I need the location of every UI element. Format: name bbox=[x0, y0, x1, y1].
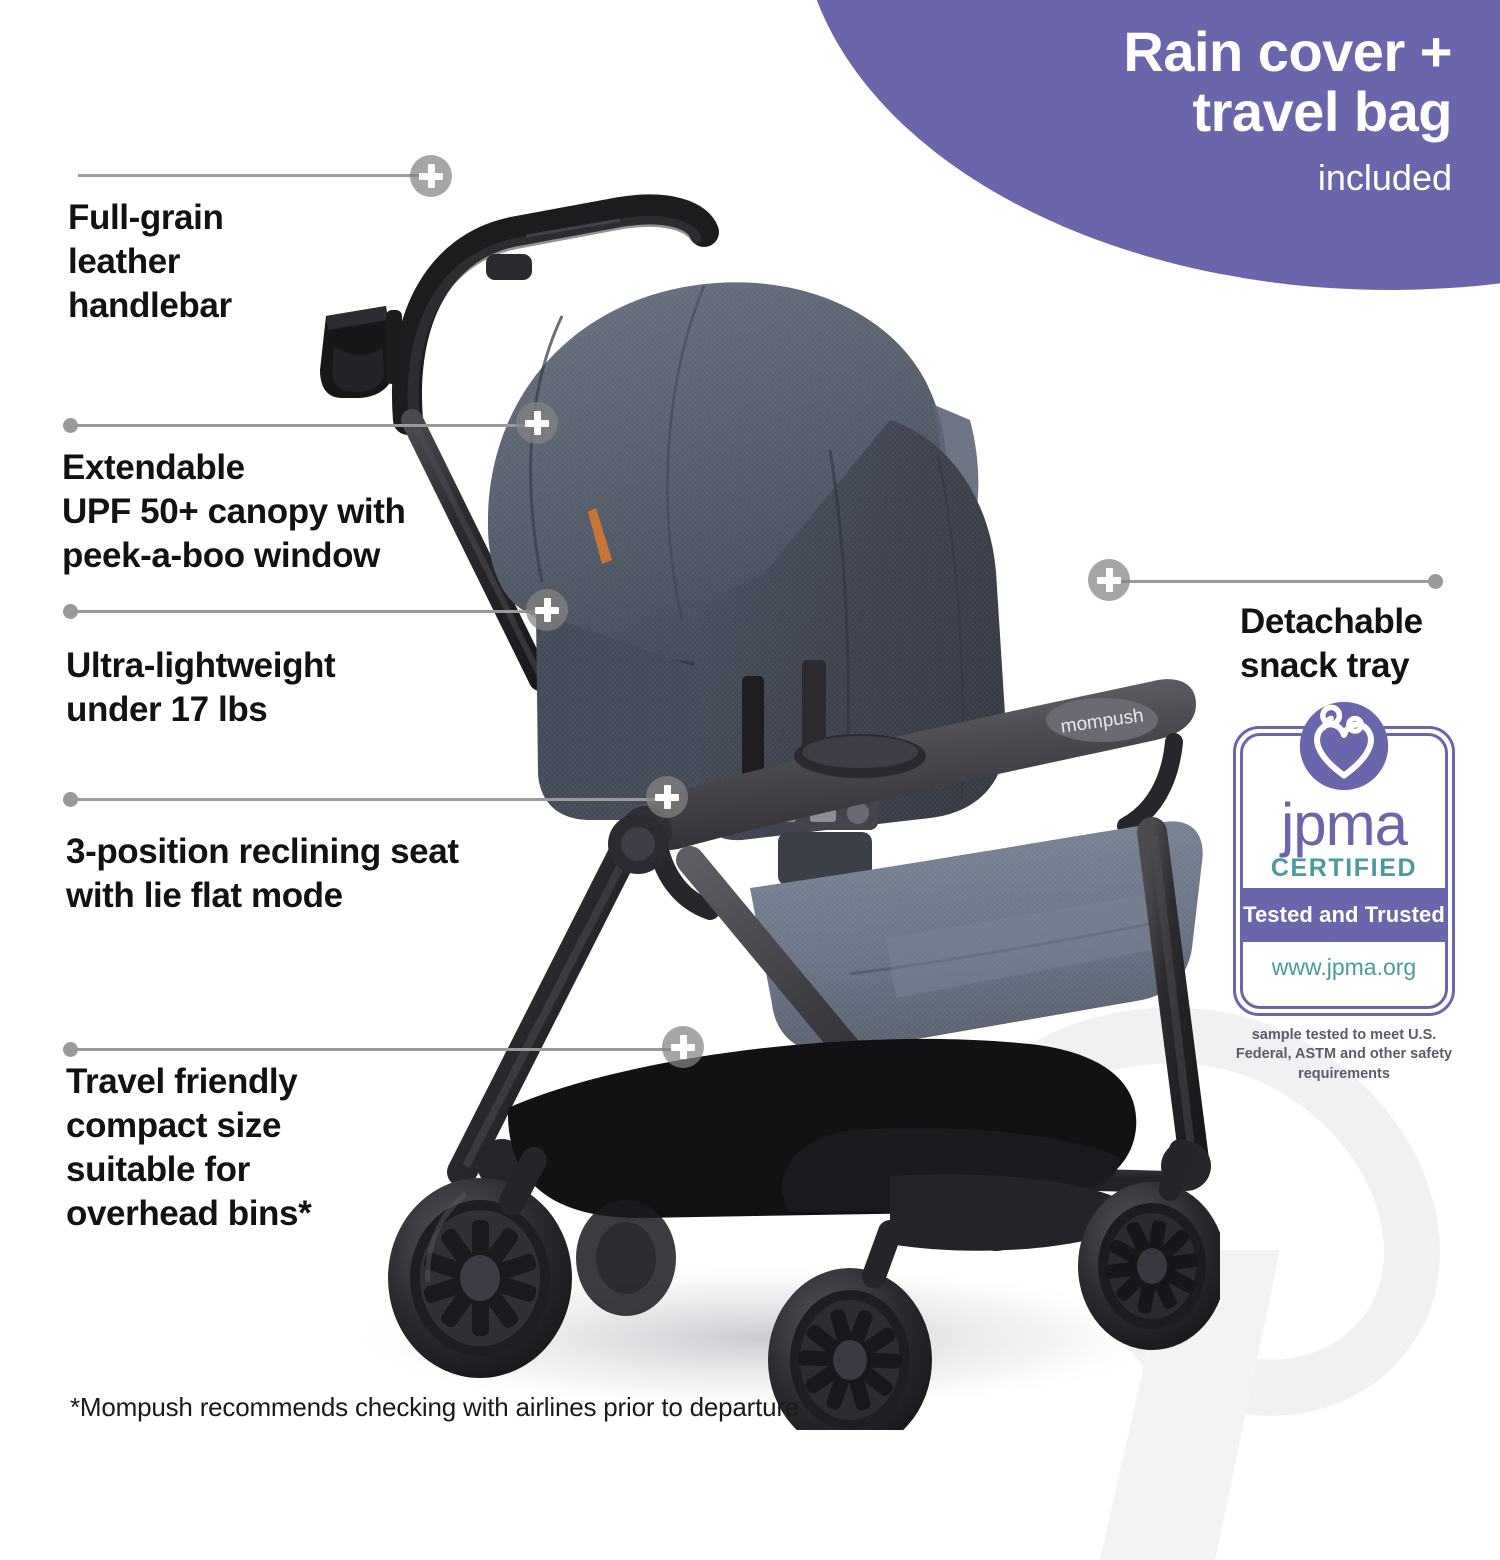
feature-line: with lie flat mode bbox=[66, 874, 459, 918]
feature-line: handlebar bbox=[68, 284, 232, 328]
leader-line-weight bbox=[76, 610, 546, 613]
jpma-url-text[interactable]: www.jpma.org bbox=[1243, 954, 1445, 981]
plus-icon-recline[interactable] bbox=[646, 776, 688, 818]
feature-line: Ultra-lightweight bbox=[66, 644, 335, 688]
leader-dot-recline bbox=[63, 792, 78, 807]
leader-line-canopy bbox=[76, 424, 536, 427]
stroller-product-image: mompush bbox=[290, 120, 1220, 1430]
feature-label-compact: Travel friendly compact size suitable fo… bbox=[66, 1060, 311, 1236]
jpma-note-text: sample tested to meet U.S. Federal, ASTM… bbox=[1227, 1026, 1461, 1084]
leader-dot-canopy bbox=[63, 418, 78, 433]
leader-line-recline bbox=[76, 798, 664, 801]
jpma-wordmark: jpma bbox=[1243, 798, 1445, 852]
promo-line-1: Rain cover + bbox=[1123, 22, 1452, 82]
feature-line: UPF 50+ canopy with bbox=[62, 490, 405, 534]
jpma-tested-band: Tested and Trusted bbox=[1243, 888, 1445, 942]
feature-label-snack-tray: Detachable snack tray bbox=[1240, 600, 1423, 688]
plus-icon-canopy[interactable] bbox=[516, 402, 558, 444]
leader-line-snack-tray bbox=[1118, 580, 1438, 583]
feature-line: Extendable bbox=[62, 446, 405, 490]
feature-line: Travel friendly bbox=[66, 1060, 311, 1104]
jpma-heart-family-icon bbox=[1298, 700, 1390, 792]
feature-line: overhead bins* bbox=[66, 1192, 311, 1236]
feature-label-canopy: Extendable UPF 50+ canopy with peek-a-bo… bbox=[62, 446, 405, 578]
jpma-certification-badge: jpma CERTIFIED Tested and Trusted www.jp… bbox=[1233, 726, 1455, 1078]
feature-line: Detachable bbox=[1240, 600, 1423, 644]
plus-icon-handlebar[interactable] bbox=[410, 155, 452, 197]
leader-dot-weight bbox=[63, 604, 78, 619]
feature-line: snack tray bbox=[1240, 644, 1423, 688]
feature-line: under 17 lbs bbox=[66, 688, 335, 732]
promo-subtitle: included bbox=[1123, 157, 1452, 199]
feature-line: leather bbox=[68, 240, 232, 284]
plus-icon-snack-tray[interactable] bbox=[1088, 559, 1130, 601]
feature-label-handlebar: Full-grain leather handlebar bbox=[68, 196, 232, 328]
feature-label-recline: 3-position reclining seat with lie flat … bbox=[66, 830, 459, 918]
feature-line: suitable for bbox=[66, 1148, 311, 1192]
promo-line-2: travel bag bbox=[1123, 82, 1452, 142]
leader-line-handlebar bbox=[78, 174, 428, 177]
feature-line: Full-grain bbox=[68, 196, 232, 240]
leader-line-compact bbox=[76, 1048, 686, 1051]
feature-line: compact size bbox=[66, 1104, 311, 1148]
jpma-card: jpma CERTIFIED Tested and Trusted www.jp… bbox=[1233, 726, 1455, 1016]
footnote-text: *Mompush recommends checking with airlin… bbox=[70, 1392, 799, 1423]
feature-label-weight: Ultra-lightweight under 17 lbs bbox=[66, 644, 335, 732]
infographic-canvas: mompush bbox=[0, 0, 1500, 1500]
feature-line: peek-a-boo window bbox=[62, 534, 405, 578]
feature-line: 3-position reclining seat bbox=[66, 830, 459, 874]
plus-icon-weight[interactable] bbox=[526, 589, 568, 631]
leader-dot-compact bbox=[63, 1042, 78, 1057]
leader-dot-snack-tray bbox=[1428, 574, 1443, 589]
jpma-band-text: Tested and Trusted bbox=[1243, 902, 1445, 928]
promo-badge-text: Rain cover + travel bag included bbox=[1123, 22, 1452, 199]
plus-icon-compact[interactable] bbox=[662, 1026, 704, 1068]
jpma-certified-text: CERTIFIED bbox=[1243, 854, 1445, 883]
